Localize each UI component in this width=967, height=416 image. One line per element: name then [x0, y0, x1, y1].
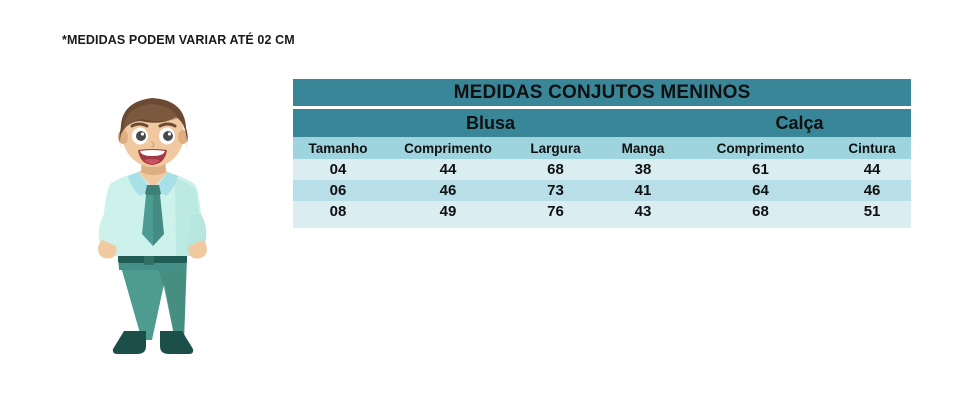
cell-comprimento-blusa: 46	[383, 180, 513, 201]
measurement-disclaimer: *MEDIDAS PODEM VARIAR ATÉ 02 CM	[62, 33, 295, 47]
column-header-comprimento-calca: Comprimento	[688, 137, 833, 159]
table-column-header-row: Tamanho Comprimento Largura Manga Compri…	[293, 137, 911, 159]
cell-comprimento-calca: 61	[688, 159, 833, 180]
cell-comprimento-calca: 64	[688, 180, 833, 201]
cell-largura: 68	[513, 159, 598, 180]
cell-tamanho: 06	[293, 180, 383, 201]
table-row: 04 44 68 38 61 44	[293, 159, 911, 180]
column-header-largura: Largura	[513, 137, 598, 159]
cell-tamanho: 04	[293, 159, 383, 180]
table-title: MEDIDAS CONJUTOS MENINOS	[293, 79, 911, 106]
table-group-row: Blusa Calça	[293, 109, 911, 137]
table-row: 06 46 73 41 64 46	[293, 180, 911, 201]
table-row: 08 49 76 43 68 51	[293, 201, 911, 222]
cell-tamanho: 08	[293, 201, 383, 222]
cell-cintura: 51	[833, 201, 911, 222]
group-header-blusa: Blusa	[293, 109, 688, 137]
cell-comprimento-calca: 68	[688, 201, 833, 222]
tie-shape	[142, 185, 164, 246]
column-header-manga: Manga	[598, 137, 688, 159]
cell-manga: 38	[598, 159, 688, 180]
cell-manga: 41	[598, 180, 688, 201]
boy-illustration	[80, 88, 225, 393]
column-header-cintura: Cintura	[833, 137, 911, 159]
column-header-comprimento-blusa: Comprimento	[383, 137, 513, 159]
cell-comprimento-blusa: 44	[383, 159, 513, 180]
column-header-tamanho: Tamanho	[293, 137, 383, 159]
cell-cintura: 46	[833, 180, 911, 201]
cell-comprimento-blusa: 49	[383, 201, 513, 222]
cell-largura: 76	[513, 201, 598, 222]
table-title-row: MEDIDAS CONJUTOS MENINOS	[293, 79, 911, 106]
cell-cintura: 44	[833, 159, 911, 180]
pants-shape	[118, 256, 187, 340]
group-header-calca: Calça	[688, 109, 911, 137]
table-bottom-edge	[293, 222, 911, 228]
cell-manga: 43	[598, 201, 688, 222]
bottom-edge-cell	[293, 222, 911, 228]
cell-largura: 73	[513, 180, 598, 201]
size-chart-table: MEDIDAS CONJUTOS MENINOS Blusa Calça Tam…	[293, 79, 911, 228]
